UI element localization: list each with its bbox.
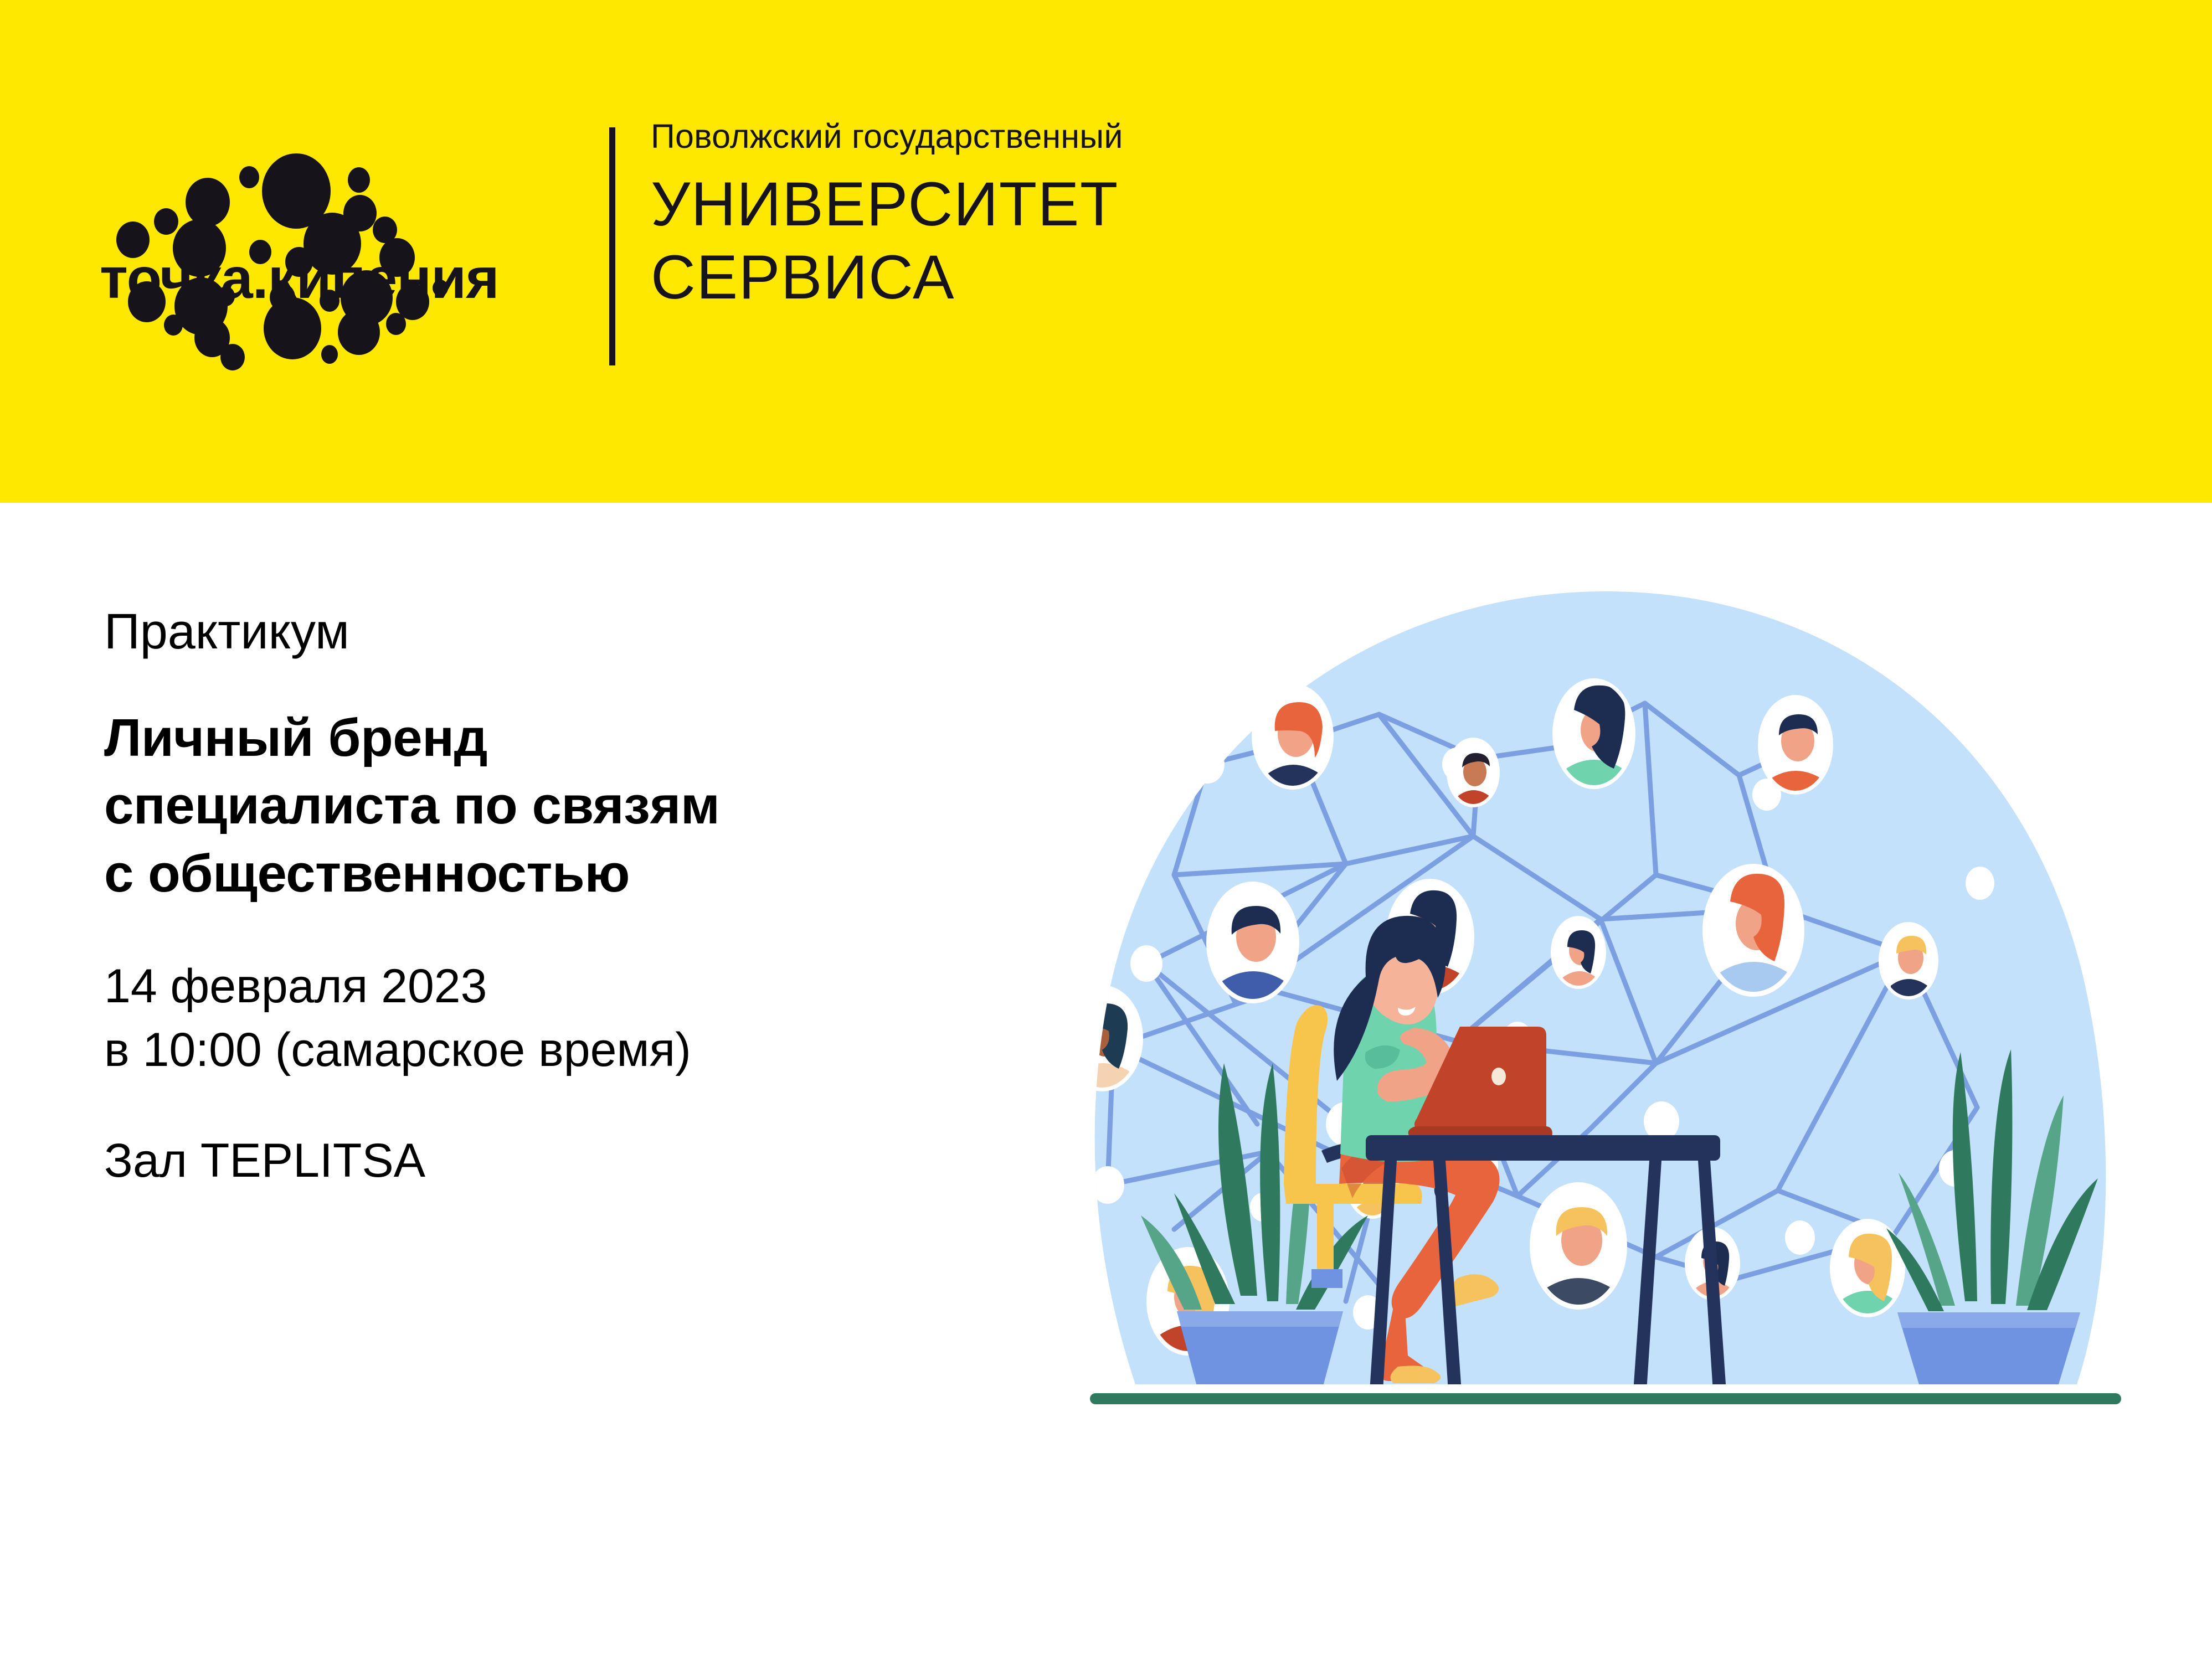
event-datetime: 14 февраля 2023 в 10:00 (самарское время… — [104, 955, 1001, 1081]
event-kicker: Практикум — [104, 604, 1001, 661]
event-title-line-2: специалиста по связям — [104, 772, 1001, 840]
avatar — [1103, 742, 1173, 839]
university-subtitle: Поволжский государственный — [651, 119, 1315, 153]
network-node — [1966, 867, 1994, 900]
event-title-line-3: с общественностью — [104, 840, 1001, 908]
network-node — [1785, 1220, 1815, 1255]
social-network-woman-laptop-illustration — [1036, 565, 2177, 1429]
ground-line — [1090, 1393, 2121, 1404]
logo-divider — [609, 127, 615, 365]
logo-wordmark: точка.кипения — [100, 246, 499, 311]
network-node — [1190, 745, 1225, 784]
tochka-kipeniya-logo: точка.кипения — [100, 119, 587, 374]
event-time: в 10:00 (самарское время) — [104, 1018, 1001, 1081]
university-name-line-1: УНИВЕРСИТЕТ — [651, 168, 1315, 241]
university-name-line-2: СЕРВИСА — [651, 241, 1315, 314]
university-name: УНИВЕРСИТЕТ СЕРВИСА — [651, 168, 1315, 314]
event-title: Личный бренд специалиста по связям с общ… — [104, 704, 1001, 909]
event-date: 14 февраля 2023 — [104, 955, 1001, 1018]
university-branding: Поволжский государственный УНИВЕРСИТЕТ С… — [651, 119, 1315, 315]
event-venue: Зал TEPLITSA — [104, 1132, 1001, 1189]
network-node — [1130, 945, 1162, 982]
network-node — [1091, 1166, 1124, 1204]
event-title-line-1: Личный бренд — [104, 704, 1001, 772]
event-info-column: Практикум Личный бренд специалиста по св… — [104, 604, 1001, 1189]
